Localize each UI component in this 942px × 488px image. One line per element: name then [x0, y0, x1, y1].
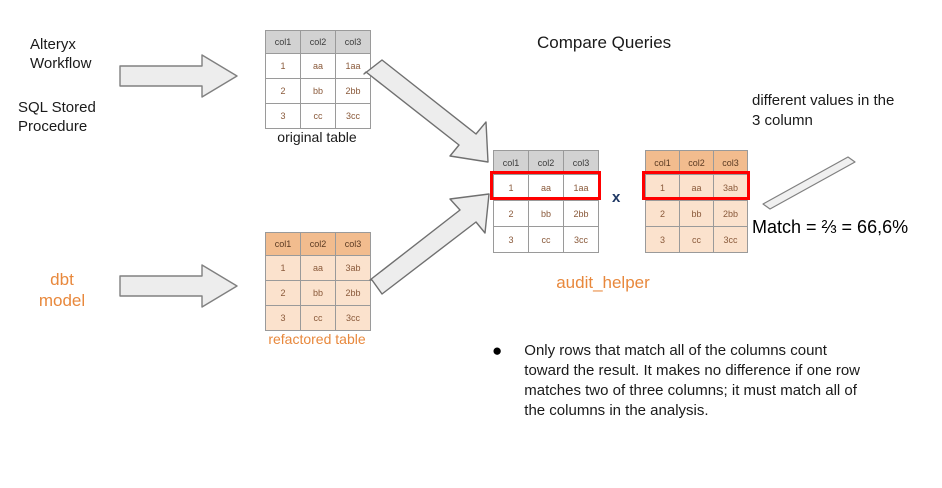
table-cell: cc: [529, 227, 564, 253]
table-header-cell: col3: [714, 151, 748, 175]
table-row: 1 aa 1aa: [494, 175, 599, 201]
table-row: 2 bb 2bb: [266, 281, 371, 306]
table-header-row: col1 col2 col3: [266, 233, 371, 256]
table-cell: 3: [266, 104, 301, 129]
table-header-cell: col1: [266, 233, 301, 256]
table-cell: 2: [646, 201, 680, 227]
page-title: Compare Queries: [537, 33, 671, 53]
table-cell: 3ab: [714, 175, 748, 201]
table-header-row: col1 col2 col3: [266, 31, 371, 54]
table-row: 3 cc 3cc: [266, 306, 371, 331]
table-header-cell: col3: [336, 233, 371, 256]
table-cell: aa: [680, 175, 714, 201]
original-table-grid: col1 col2 col3 1 aa 1aa 2 bb 2bb 3 cc 3c…: [265, 30, 371, 129]
table-cell: cc: [680, 227, 714, 253]
table-header-cell: col2: [529, 151, 564, 175]
source-label-sql-stored-procedure: SQL Stored Procedure: [18, 98, 96, 136]
table-cell: cc: [301, 104, 336, 129]
table-cell: 2bb: [564, 201, 599, 227]
cross-symbol: x: [612, 189, 620, 206]
table-cell: 1: [494, 175, 529, 201]
refactored-table: col1 col2 col3 1 aa 3ab 2 bb 2bb 3 cc 3c…: [265, 232, 371, 331]
table-cell: 2: [266, 79, 301, 104]
arrow-right-icon-top: [118, 52, 240, 100]
annotation-match-percentage: Match = ⅔ = 66,6%: [752, 217, 908, 238]
table-header-cell: col2: [680, 151, 714, 175]
table-header-row: col1 col2 col3: [494, 151, 599, 175]
source-label-alteryx-workflow: Alteryx Workflow: [30, 35, 91, 73]
table-cell: 1: [646, 175, 680, 201]
table-cell: 3cc: [336, 306, 371, 331]
table-cell: bb: [301, 79, 336, 104]
annotation-different-values: different values in the 3 column: [752, 91, 938, 131]
table-cell: 3cc: [564, 227, 599, 253]
caption-refactored-table: refactored table: [249, 331, 385, 347]
table-cell: bb: [529, 201, 564, 227]
table-cell: bb: [680, 201, 714, 227]
table-header-cell: col2: [301, 233, 336, 256]
source-label-dbt-model: dbt model: [22, 269, 102, 311]
caption-audit-helper: audit_helper: [513, 273, 693, 293]
table-header-cell: col3: [336, 31, 371, 54]
compare-left-table: col1 col2 col3 1 aa 1aa 2 bb 2bb 3 cc 3c…: [493, 150, 599, 253]
table-cell: 3cc: [714, 227, 748, 253]
table-header-cell: col1: [646, 151, 680, 175]
table-cell: 2bb: [336, 281, 371, 306]
table-row: 2 bb 2bb: [494, 201, 599, 227]
table-header-cell: col1: [494, 151, 529, 175]
table-header-cell: col1: [266, 31, 301, 54]
table-row: 1 aa 1aa: [266, 54, 371, 79]
table-row: 3 cc 3cc: [646, 227, 748, 253]
compare-left-table-grid: col1 col2 col3 1 aa 1aa 2 bb 2bb 3 cc 3c…: [493, 150, 599, 253]
table-row: 3 cc 3cc: [494, 227, 599, 253]
table-cell: 1aa: [564, 175, 599, 201]
table-cell: 3: [494, 227, 529, 253]
table-cell: 3: [266, 306, 301, 331]
table-cell: cc: [301, 306, 336, 331]
table-row: 3 cc 3cc: [266, 104, 371, 129]
table-cell: 1: [266, 256, 301, 281]
table-cell: aa: [301, 54, 336, 79]
table-cell: 1: [266, 54, 301, 79]
note-block: ● Only rows that match all of the column…: [492, 341, 912, 421]
compare-right-table-grid: col1 col2 col3 1 aa 3ab 2 bb 2bb 3 cc 3c…: [645, 150, 748, 253]
table-cell: 3ab: [336, 256, 371, 281]
note-text: Only rows that match all of the columns …: [524, 341, 872, 421]
compare-right-table: col1 col2 col3 1 aa 3ab 2 bb 2bb 3 cc 3c…: [645, 150, 748, 253]
table-cell: aa: [529, 175, 564, 201]
table-cell: 3: [646, 227, 680, 253]
table-header-cell: col3: [564, 151, 599, 175]
table-row: 1 aa 3ab: [646, 175, 748, 201]
table-cell: aa: [301, 256, 336, 281]
table-row: 2 bb 2bb: [646, 201, 748, 227]
table-cell: 2: [266, 281, 301, 306]
table-cell: 2: [494, 201, 529, 227]
arrow-right-icon-bottom: [118, 262, 240, 310]
pointer-line-icon: [760, 152, 860, 212]
table-header-row: col1 col2 col3: [646, 151, 748, 175]
original-table: col1 col2 col3 1 aa 1aa 2 bb 2bb 3 cc 3c…: [265, 30, 371, 129]
table-row: 2 bb 2bb: [266, 79, 371, 104]
refactored-table-grid: col1 col2 col3 1 aa 3ab 2 bb 2bb 3 cc 3c…: [265, 232, 371, 331]
table-cell: bb: [301, 281, 336, 306]
bullet-icon: ●: [492, 341, 502, 421]
table-cell: 2bb: [714, 201, 748, 227]
table-row: 1 aa 3ab: [266, 256, 371, 281]
table-header-cell: col2: [301, 31, 336, 54]
